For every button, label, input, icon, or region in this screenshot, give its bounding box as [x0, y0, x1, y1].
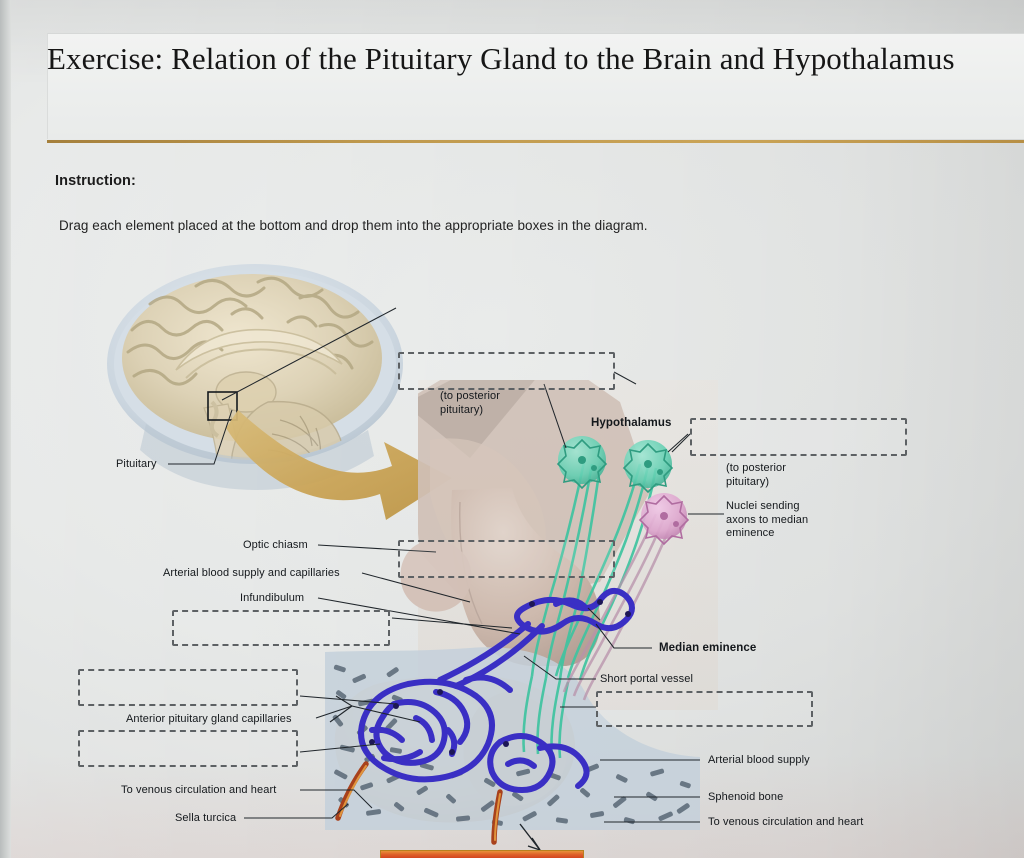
drop-box-4[interactable] — [172, 610, 390, 646]
label-hypothalamus: Hypothalamus — [591, 417, 671, 431]
label-to-venous-circulation-right: To venous circulation and heart — [708, 816, 863, 830]
diagram-area: Pituitary (to posterior pituitary) Hypot… — [0, 252, 1024, 858]
label-median-eminence: Median eminence — [659, 642, 756, 656]
drop-box-3[interactable] — [690, 418, 907, 456]
label-to-posterior-pituitary-left: (to posterior pituitary) — [440, 390, 500, 417]
label-nuclei-sending-axons: Nuclei sending axons to median eminence — [726, 500, 808, 541]
drag-element-tray[interactable] — [380, 850, 584, 858]
label-anterior-pituitary-gland-capillaries: Anterior pituitary gland capillaries — [126, 713, 292, 727]
label-sphenoid-bone: Sphenoid bone — [708, 791, 783, 805]
label-optic-chiasm: Optic chiasm — [243, 539, 308, 553]
label-infundibulum: Infundibulum — [240, 592, 304, 606]
label-short-portal-vessel: Short portal vessel — [600, 673, 693, 687]
instruction-body: Drag each element placed at the bottom a… — [59, 218, 648, 233]
label-to-posterior-pituitary-right: (to posterior pituitary) — [726, 462, 786, 489]
drop-box-2[interactable] — [398, 352, 615, 390]
page-title: Exercise: Relation of the Pituitary Glan… — [47, 36, 997, 82]
drop-box-6[interactable] — [78, 730, 298, 767]
label-sella-turcica: Sella turcica — [175, 812, 236, 826]
label-arterial-blood-supply: Arterial blood supply — [708, 754, 810, 768]
instruction-heading: Instruction: — [55, 173, 136, 189]
drop-box-1[interactable] — [398, 540, 615, 578]
label-arterial-blood-supply-and-capillaries: Arterial blood supply and capillaries — [163, 567, 340, 581]
label-pituitary: Pituitary — [116, 458, 157, 472]
drop-box-7[interactable] — [596, 691, 813, 727]
label-to-venous-circulation-left: To venous circulation and heart — [121, 784, 276, 798]
drop-box-5[interactable] — [78, 669, 298, 706]
title-accent-rule — [47, 140, 1024, 143]
